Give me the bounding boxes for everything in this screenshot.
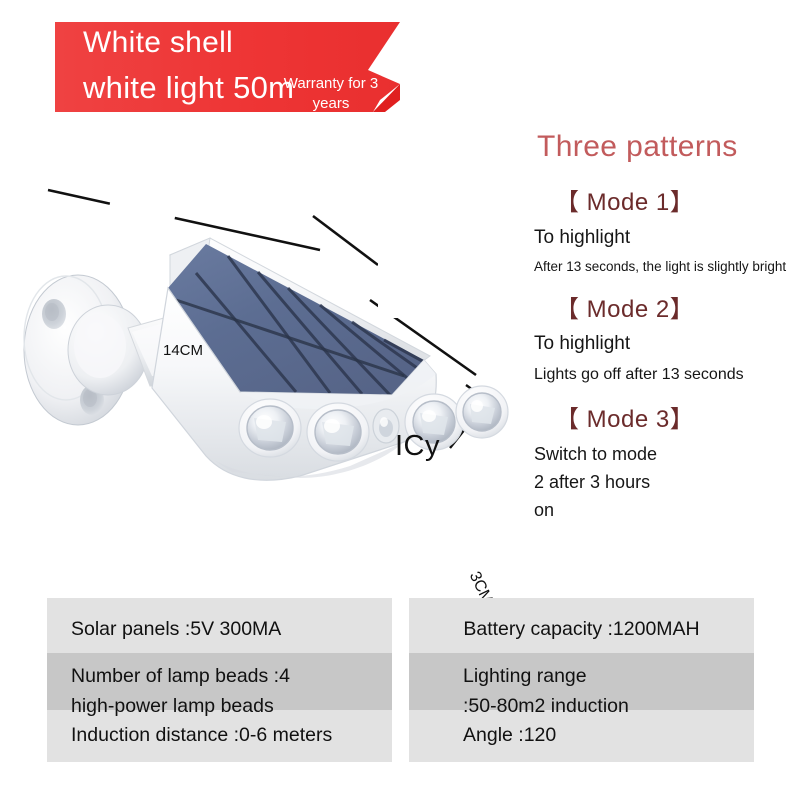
mode-1-block: 【 Mode 1】 To highlight After 13 seconds,… [533,189,795,276]
dimension-line-width-gap [110,203,175,217]
banner-warranty-text: Warranty for 3 years [277,74,385,115]
three-patterns-section: Three patterns 【 Mode 1】 To highlight Af… [533,130,795,537]
promo-banner: White shell white light 50m Warranty for… [55,22,400,120]
mode-3-block: 【 Mode 3】 Switch to mode 2 after 3 hours… [533,406,795,523]
mode-2-sub: Lights go off after 13 seconds [534,365,795,386]
mode-3-line-3: on [534,499,795,522]
mode-1-title: 【 Mode 1】 [555,189,795,217]
mode-3-line-1: Switch to mode [534,443,795,466]
spec-left-row-4: Induction distance :0-6 meters [71,726,332,746]
patterns-title: Three patterns [537,130,795,163]
mode-2-main: To highlight [534,332,795,356]
spec-left-row-1: Solar panels :5V 300MA [71,620,281,640]
mode-3-line-2: 2 after 3 hours [534,471,795,494]
screw-hole-top-shadow [45,303,59,321]
brand-label: ICy [395,430,440,463]
banner-line-1: White shell [83,28,233,58]
spec-right-row-2: Lighting range [463,667,587,687]
mode-2-block: 【 Mode 2】 To highlight Lights go off aft… [533,296,795,386]
led-bead-1 [239,399,301,457]
banner-line-2: white light 50m [83,72,294,103]
brand-text-backdrop [378,260,458,318]
infographic-canvas: White shell white light 50m Warranty for… [0,0,800,800]
spec-box-left: Solar panels :5V 300MA Number of lamp be… [47,598,392,762]
spec-left-row-3: high-power lamp beads [71,697,274,717]
mode-3-title: 【 Mode 3】 [555,406,795,434]
dimension-line-right-upper [313,216,378,265]
mode-1-main: To highlight [534,226,795,250]
solar-lamp-drawing [0,160,530,500]
spec-right-row-1: Battery capacity :1200MAH [409,620,754,640]
spec-right-row-4: Angle :120 [463,726,556,746]
dimension-line-width-a [48,190,320,250]
led-bead-2 [307,403,369,461]
mode-1-sub: After 13 seconds, the light is slightly … [534,258,795,276]
mode-2-title: 【 Mode 2】 [555,296,795,324]
swivel-ball-highlight [74,314,126,378]
spec-right-row-3: :50-80m2 induction [463,697,629,717]
dimension-label-width: 14CM [163,342,203,359]
spec-box-right: Battery capacity :1200MAH Lighting range… [409,598,754,762]
spec-left-row-2: Number of lamp beads :4 [71,667,290,687]
product-illustration: 14CM 3CM ICy [0,160,530,500]
led-bead-4 [456,386,508,438]
